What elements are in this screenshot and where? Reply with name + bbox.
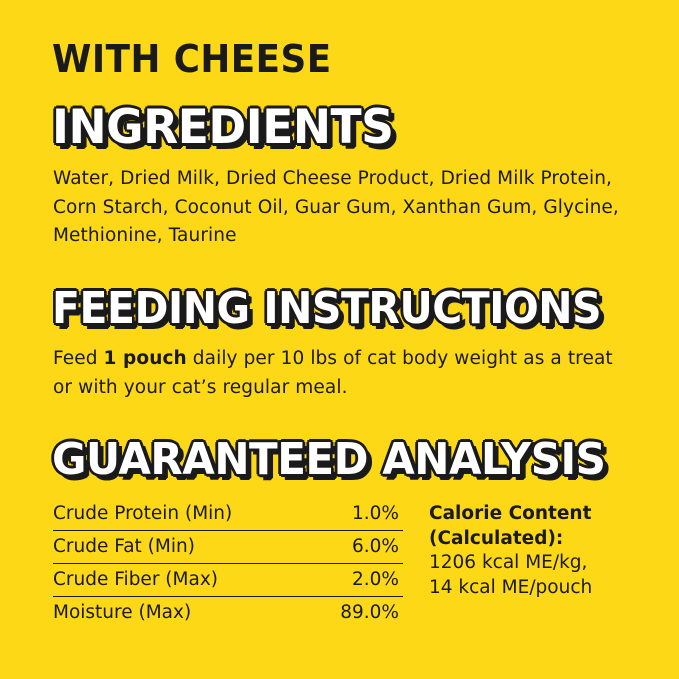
- analysis-label: Crude Fiber (Max): [53, 564, 312, 597]
- calorie-title-line2: (Calculated):: [429, 527, 592, 551]
- analysis-label: Moisture (Max): [53, 597, 312, 630]
- product-label-panel: WITH CHEESE INGREDIENTS Water, Dried Mil…: [0, 0, 679, 679]
- calorie-content-block: Calorie Content (Calculated): 1206 kcal …: [429, 498, 592, 629]
- feeding-amount: 1 pouch: [104, 348, 187, 369]
- calorie-value-pouch: 14 kcal ME/pouch: [429, 576, 592, 600]
- analysis-value: 89.0%: [312, 597, 403, 630]
- ingredients-heading: INGREDIENTS: [52, 104, 614, 151]
- table-row: Crude Protein (Min) 1.0%: [53, 498, 403, 531]
- table-row: Moisture (Max) 89.0%: [53, 597, 403, 630]
- table-row: Crude Fat (Min) 6.0%: [53, 531, 403, 564]
- analysis-table: Crude Protein (Min) 1.0% Crude Fat (Min)…: [53, 498, 403, 629]
- table-row: Crude Fiber (Max) 2.0%: [53, 564, 403, 597]
- analysis-label: Crude Protein (Min): [53, 498, 312, 531]
- analysis-value: 6.0%: [312, 531, 403, 564]
- guaranteed-analysis-heading: GUARANTEED ANALYSIS: [52, 438, 605, 482]
- product-variant-title: WITH CHEESE: [52, 40, 596, 78]
- analysis-value: 1.0%: [312, 498, 403, 531]
- guaranteed-analysis-block: Crude Protein (Min) 1.0% Crude Fat (Min)…: [53, 498, 631, 629]
- calorie-title-line1: Calorie Content: [429, 502, 592, 526]
- feeding-instructions-heading: FEEDING INSTRUCTIONS: [52, 287, 590, 331]
- ingredients-text: Water, Dried Milk, Dried Cheese Product,…: [53, 165, 631, 251]
- analysis-label: Crude Fat (Min): [53, 531, 312, 564]
- feeding-text-before: Feed: [53, 348, 104, 369]
- feeding-instructions-text: Feed 1 pouch daily per 10 lbs of cat bod…: [53, 345, 631, 402]
- analysis-value: 2.0%: [312, 564, 403, 597]
- calorie-value-kg: 1206 kcal ME/kg,: [429, 551, 592, 575]
